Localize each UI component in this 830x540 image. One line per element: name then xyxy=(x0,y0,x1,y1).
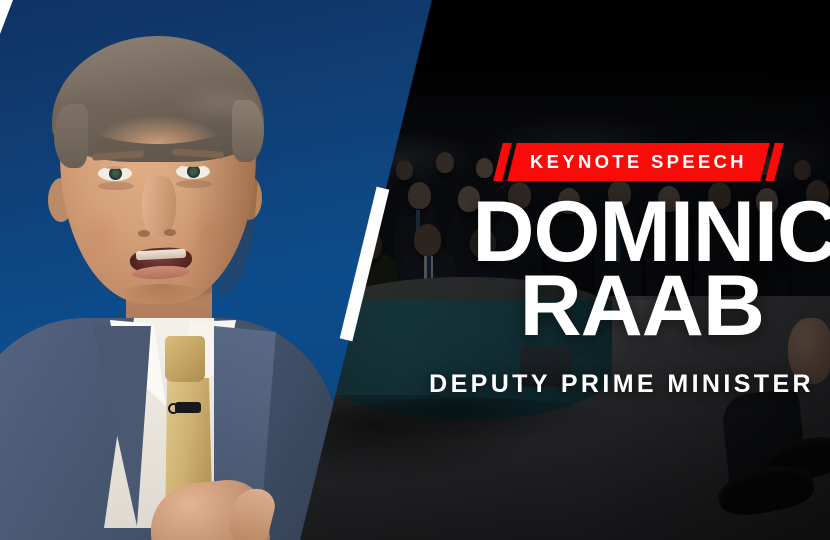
hair-temple-right xyxy=(232,100,264,162)
speaker-portrait xyxy=(0,0,330,540)
ribbon-label: KEYNOTE SPEECH xyxy=(530,151,747,173)
nostril-right xyxy=(164,229,176,236)
lapel-microphone-clip xyxy=(175,402,201,413)
chin xyxy=(118,284,204,308)
corner-accent-triangle xyxy=(0,0,13,34)
keynote-speech-graphic: KEYNOTE SPEECH DOMINIC RAAB DEPUTY PRIME… xyxy=(0,0,830,540)
eye-left xyxy=(98,166,132,181)
hair-temple-left xyxy=(54,104,88,168)
under-eye-right xyxy=(176,180,212,188)
necktie-knot xyxy=(165,336,205,382)
eyelid-left xyxy=(98,166,132,169)
ribbon-body: KEYNOTE SPEECH xyxy=(507,143,769,181)
keynote-ribbon[interactable]: KEYNOTE SPEECH xyxy=(498,143,779,181)
nostril-left xyxy=(138,230,150,237)
cheek-left xyxy=(78,210,124,264)
under-eye-left xyxy=(98,182,134,190)
eyelid-right xyxy=(176,164,210,167)
cheek-right xyxy=(190,208,236,262)
forehead xyxy=(72,78,244,144)
eye-right xyxy=(176,164,210,179)
